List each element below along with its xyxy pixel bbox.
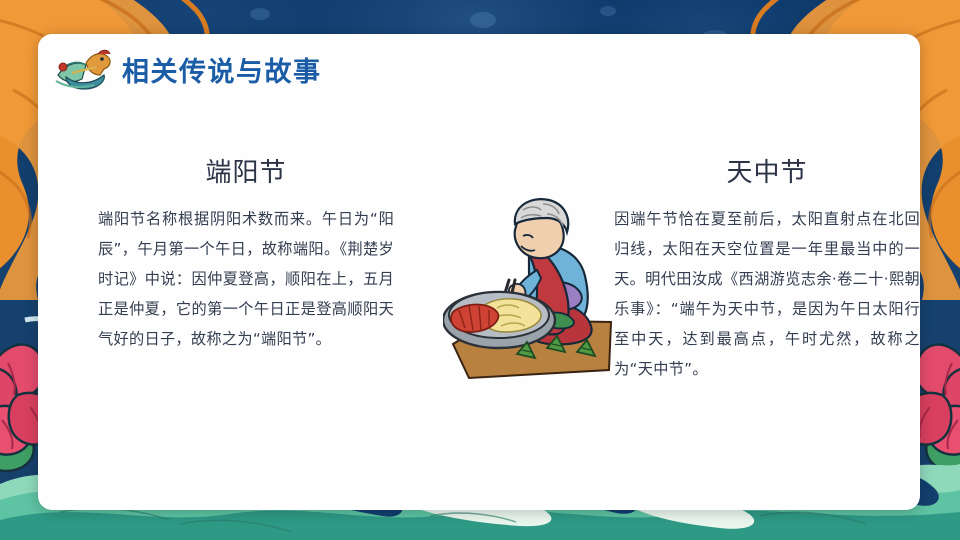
column-body-tianzhong: 因端午节恰在夏至前后，太阳直射点在北回归线，太阳在天空位置是一年里最当中的一天。… (614, 204, 920, 384)
page-title: 相关传说与故事 (122, 50, 322, 89)
woman-making-zongzi-illustration (443, 194, 613, 394)
dragon-boat-icon (52, 45, 114, 93)
column-tianzhong: 天中节 因端午节恰在夏至前后，太阳直射点在北回归线，太阳在天空位置是一年里最当中… (614, 152, 920, 399)
background-speck (470, 12, 496, 28)
column-body-duanyang: 端阳节名称根据阴阳术数而来。午日为“阳辰”，午月第一个午日，故称端阳。《荆楚岁时… (98, 204, 394, 354)
slide-root: 相关传说与故事 端阳节 端阳节名称根据阴阳术数而来。午日为“阳辰”，午月第一个午… (0, 0, 960, 540)
column-heading-tianzhong: 天中节 (614, 152, 920, 189)
background-speck (250, 8, 270, 20)
column-heading-duanyang: 端阳节 (98, 152, 394, 189)
content-card: 相关传说与故事 端阳节 端阳节名称根据阴阳术数而来。午日为“阳辰”，午月第一个午… (38, 34, 920, 510)
card-header: 相关传说与故事 (52, 42, 322, 96)
column-duanyang: 端阳节 端阳节名称根据阴阳术数而来。午日为“阳辰”，午月第一个午日，故称端阳。《… (98, 152, 394, 399)
background-speck (600, 6, 616, 16)
